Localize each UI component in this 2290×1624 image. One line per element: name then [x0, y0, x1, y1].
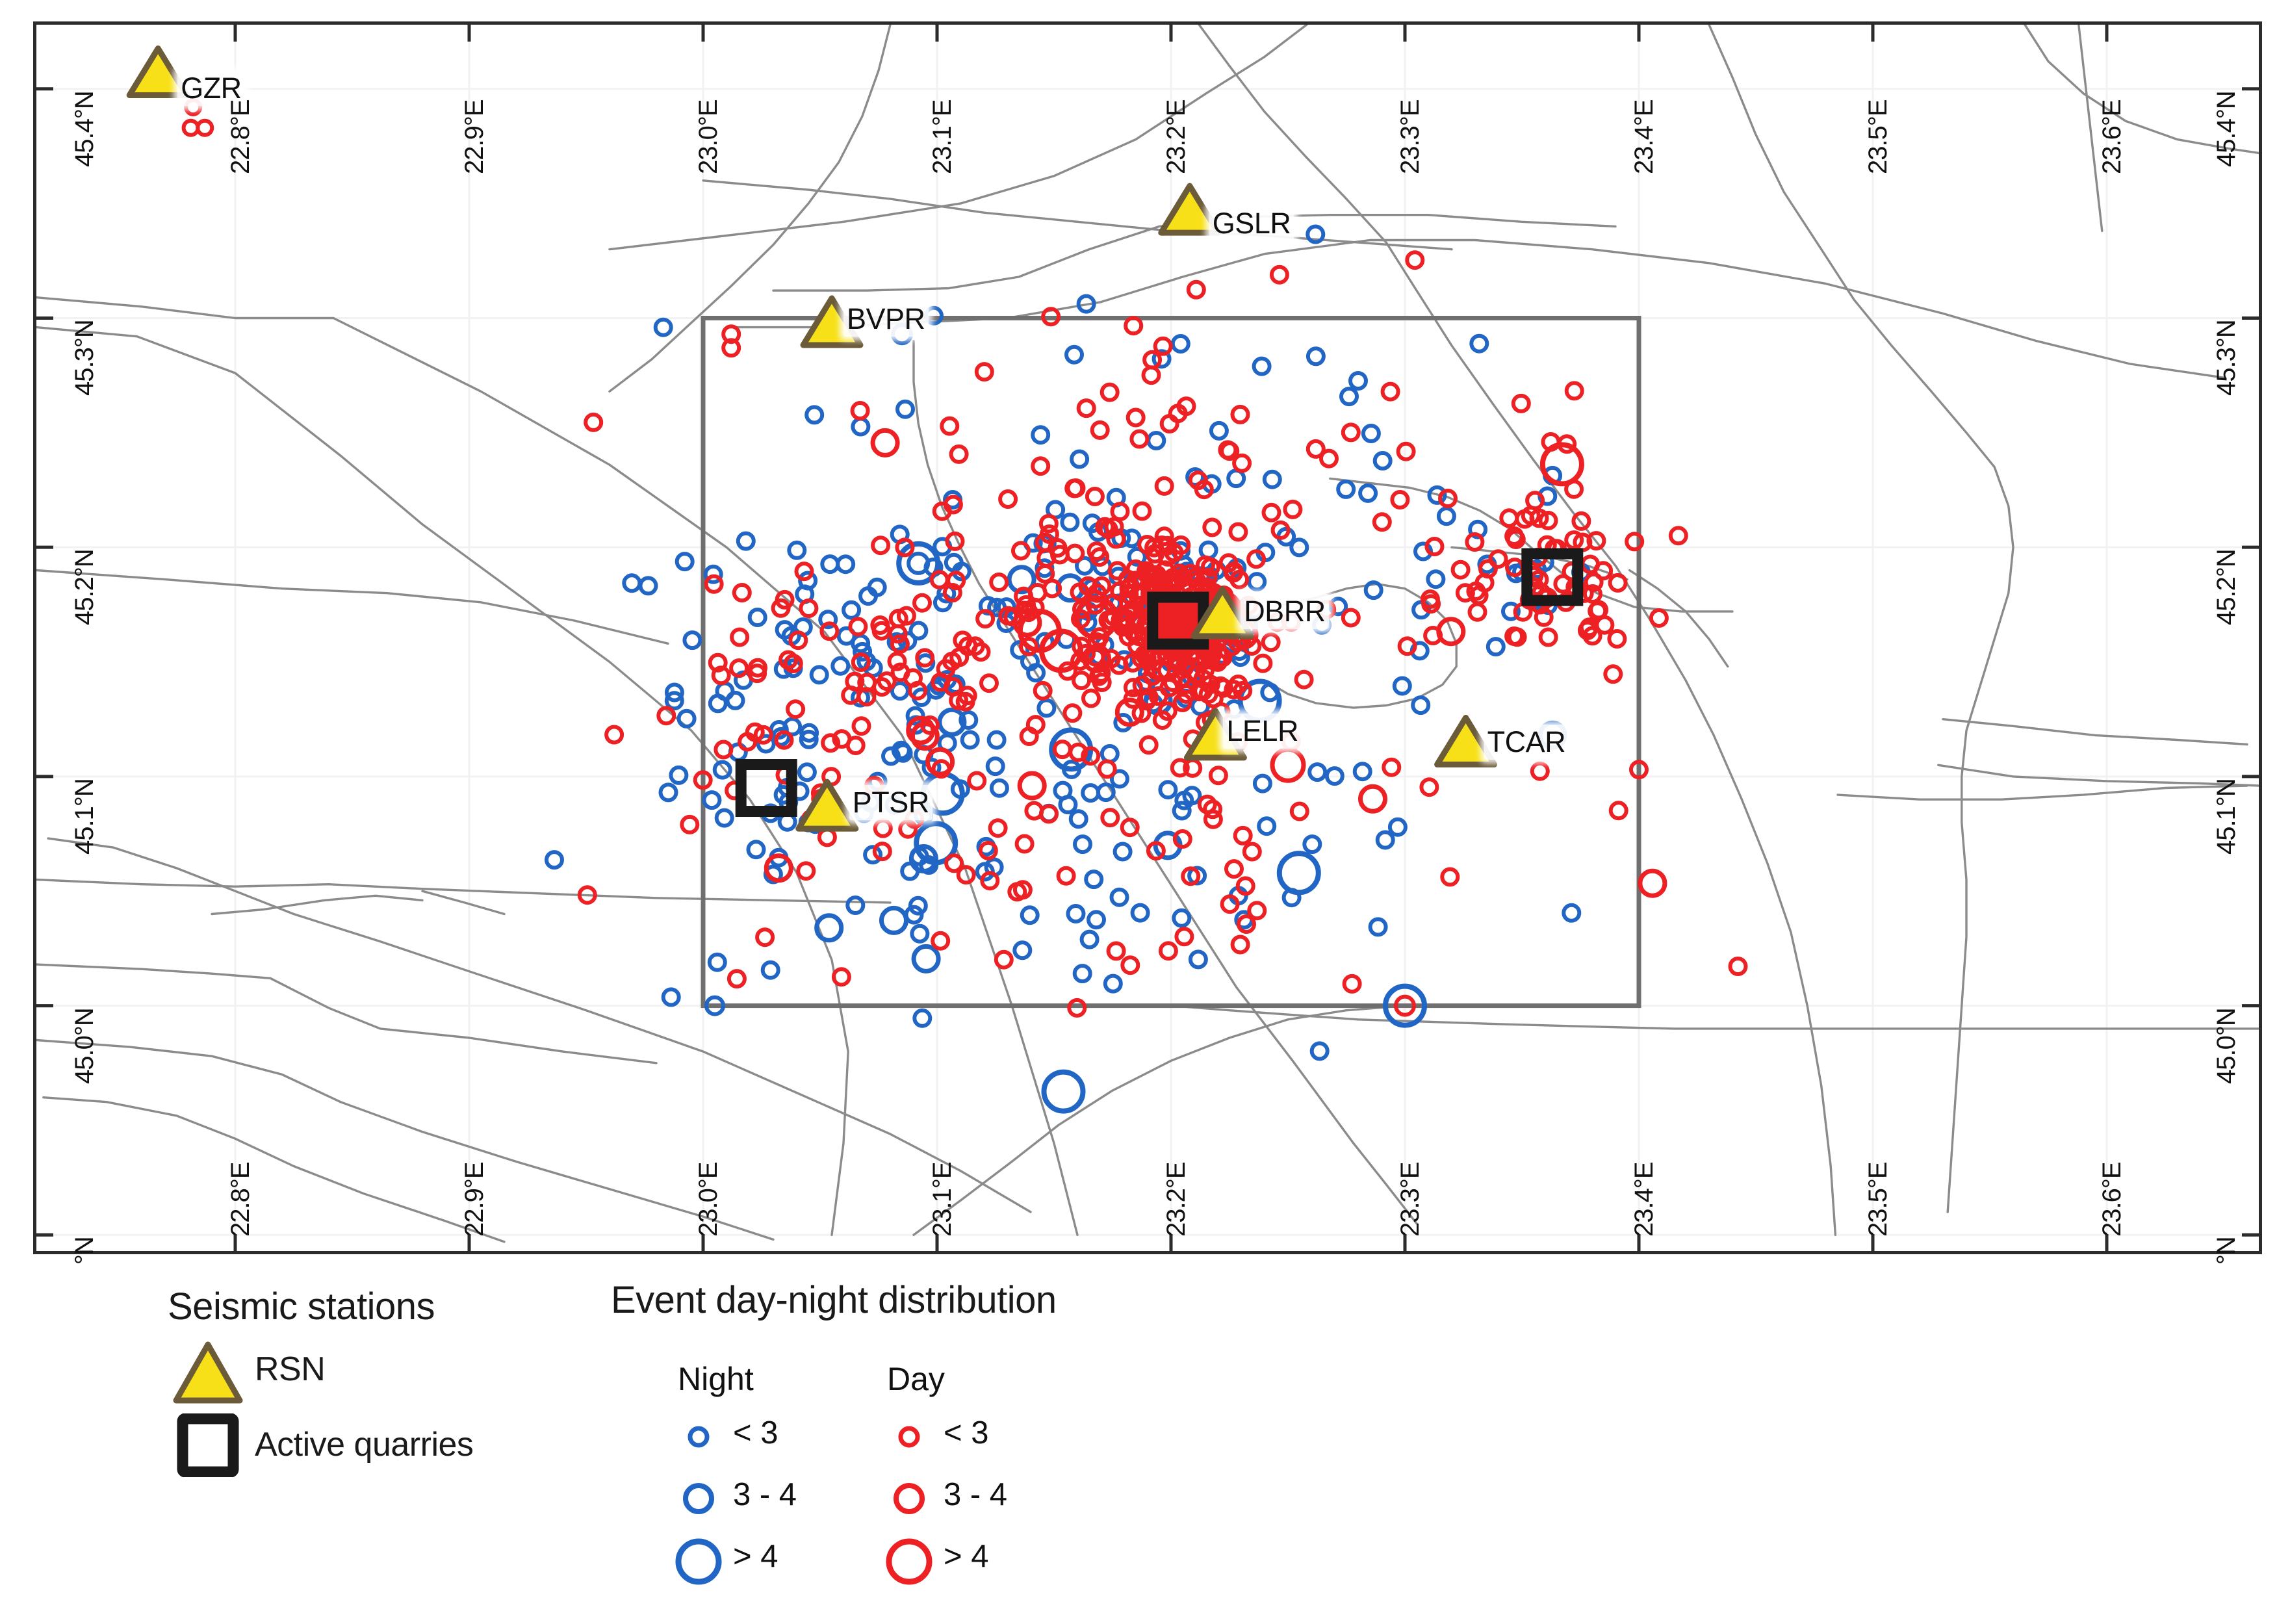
- axis-x-top-tick-3: 23.1°E: [928, 99, 957, 174]
- axis-x-bottom-tick-2: 23.0°E: [694, 1162, 723, 1237]
- legend-day-mag-1: 3 - 4: [944, 1476, 1007, 1513]
- legend-night-mag-0: < 3: [733, 1415, 778, 1451]
- axis-y-left-tick-2: 45.1°N: [70, 779, 99, 855]
- legend-day-mag-2: > 4: [944, 1538, 988, 1575]
- axis-x-top-tick-7: 23.5°E: [1864, 99, 1893, 174]
- map-panel: [33, 21, 2262, 1254]
- legend-symbol-night-1: [686, 1486, 712, 1512]
- legend-col-night: Night: [678, 1360, 754, 1398]
- station-markers: [129, 48, 1494, 829]
- legend-item-rsn: RSN: [255, 1350, 325, 1389]
- legend-magnitude-symbols: [663, 1407, 1118, 1615]
- map-canvas: [36, 25, 2259, 1251]
- axis-x-top-tick-6: 23.4°E: [1630, 99, 1659, 174]
- legend-day-mag-0: < 3: [944, 1415, 988, 1451]
- axis-y-right-tick-5: 45.4°N: [2212, 91, 2241, 167]
- axis-y-left-tick-4: 45.3°N: [70, 320, 99, 396]
- legend-col-day: Day: [887, 1360, 945, 1398]
- axis-y-right-tick-3: 45.2°N: [2212, 549, 2241, 625]
- axis-x-bottom-tick-8: 23.6°E: [2098, 1162, 2127, 1237]
- axis-x-top-tick-4: 23.2°E: [1162, 99, 1191, 174]
- axis-x-top-tick-1: 22.9°E: [460, 99, 489, 174]
- axis-y-left-tick-1: 45.0°N: [70, 1008, 99, 1084]
- legend-symbol-day-1: [896, 1486, 922, 1512]
- legend-panel: Seismic stations RSN Active quarries Eve…: [0, 1264, 2290, 1624]
- axis-y-right-tick-2: 45.1°N: [2212, 779, 2241, 855]
- axis-x-bottom-tick-5: 23.3°E: [1396, 1162, 1425, 1237]
- axis-y-left-tick-5: 45.4°N: [70, 91, 99, 167]
- station-label-ptsr: PTSR: [849, 785, 933, 820]
- legend-symbol-night-0: [690, 1428, 707, 1445]
- legend-night-mag-1: 3 - 4: [733, 1476, 797, 1513]
- axis-x-bottom-tick-6: 23.4°E: [1630, 1162, 1659, 1237]
- legend-symbol-night-2: [678, 1541, 719, 1582]
- legend-symbol-day-2: [889, 1541, 929, 1582]
- active-quarry-square-icon: [177, 1413, 239, 1477]
- axis-x-top-tick-8: 23.6°E: [2098, 99, 2127, 174]
- axis-y-right-tick-1: 45.0°N: [2212, 1008, 2241, 1084]
- axis-x-bottom-tick-1: 22.9°E: [460, 1162, 489, 1237]
- station-label-dbrr: DBRR: [1241, 594, 1329, 629]
- axis-x-top-tick-0: 22.8°E: [226, 99, 255, 174]
- legend-item-active-quarries: Active quarries: [255, 1425, 473, 1464]
- station-label-bvpr: BVPR: [843, 302, 929, 337]
- legend-night-mag-2: > 4: [733, 1538, 778, 1575]
- event-circles: [184, 100, 1746, 1111]
- axis-y-left-tick-3: 45.2°N: [70, 549, 99, 625]
- axis-x-bottom-tick-0: 22.8°E: [226, 1162, 255, 1237]
- station-label-tcar: TCAR: [1484, 725, 1569, 760]
- legend-events-title: Event day-night distribution: [611, 1278, 1057, 1322]
- axis-x-top-tick-2: 23.0°E: [694, 99, 723, 174]
- axis-y-right-tick-4: 45.3°N: [2212, 320, 2241, 396]
- station-label-gslr: GSLR: [1209, 206, 1294, 241]
- rsn-triangle-icon: [172, 1341, 244, 1404]
- station-label-lelr: LELR: [1223, 714, 1302, 749]
- legend-symbol-day-0: [901, 1428, 918, 1445]
- axis-x-bottom-tick-7: 23.5°E: [1864, 1162, 1893, 1237]
- legend-stations-title: Seismic stations: [168, 1285, 435, 1328]
- axis-x-top-tick-5: 23.3°E: [1396, 99, 1425, 174]
- axis-x-bottom-tick-4: 23.2°E: [1162, 1162, 1191, 1237]
- axis-x-bottom-tick-3: 23.1°E: [928, 1162, 957, 1237]
- figure-root: GZRGSLRBVPRDBRRLELRTCARPTSR22.8°E22.9°E2…: [0, 0, 2290, 1624]
